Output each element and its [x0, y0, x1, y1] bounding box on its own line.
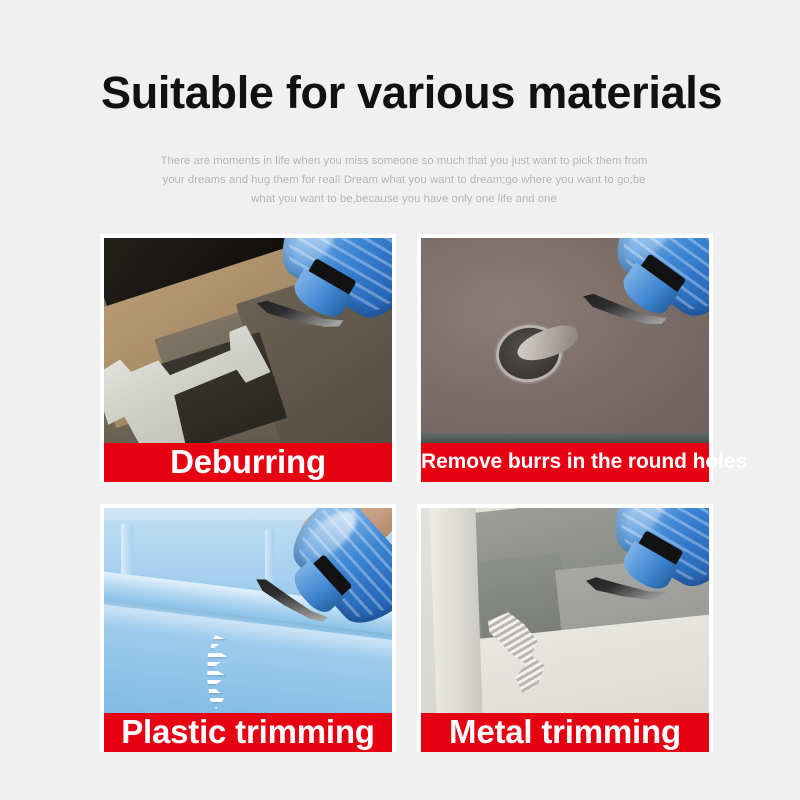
page-subtext: There are moments in life when you miss …	[160, 152, 648, 209]
caption-banner: Metal trimming	[421, 713, 709, 752]
photo-shape-crate-rib	[265, 529, 274, 599]
photo-shape-plate-edge	[421, 433, 709, 443]
caption-label: Remove burrs in the round holes	[421, 443, 709, 481]
feature-panel-grid: Deburring Remove bu	[100, 234, 713, 752]
feature-panel-deburring[interactable]: Deburring	[100, 234, 396, 482]
page-title: Suitable for various materials	[101, 66, 721, 120]
photo-plastic-trimming	[104, 508, 392, 713]
photo-round-holes	[421, 238, 709, 443]
feature-panel-metal-trimming[interactable]: Metal trimming	[417, 504, 713, 752]
product-feature-page: Suitable for various materials There are…	[0, 0, 800, 800]
caption-label: Plastic trimming	[104, 713, 392, 751]
photo-shape-vertical-plate	[429, 508, 483, 713]
photo-metal-trimming	[421, 508, 709, 713]
caption-banner: Remove burrs in the round holes	[421, 443, 709, 482]
caption-label: Metal trimming	[421, 713, 709, 751]
caption-banner: Deburring	[104, 443, 392, 482]
photo-deburring	[104, 238, 392, 443]
caption-label: Deburring	[104, 443, 392, 481]
caption-banner: Plastic trimming	[104, 713, 392, 752]
feature-panel-plastic-trimming[interactable]: Plastic trimming	[100, 504, 396, 752]
feature-panel-round-holes[interactable]: Remove burrs in the round holes	[417, 234, 713, 482]
